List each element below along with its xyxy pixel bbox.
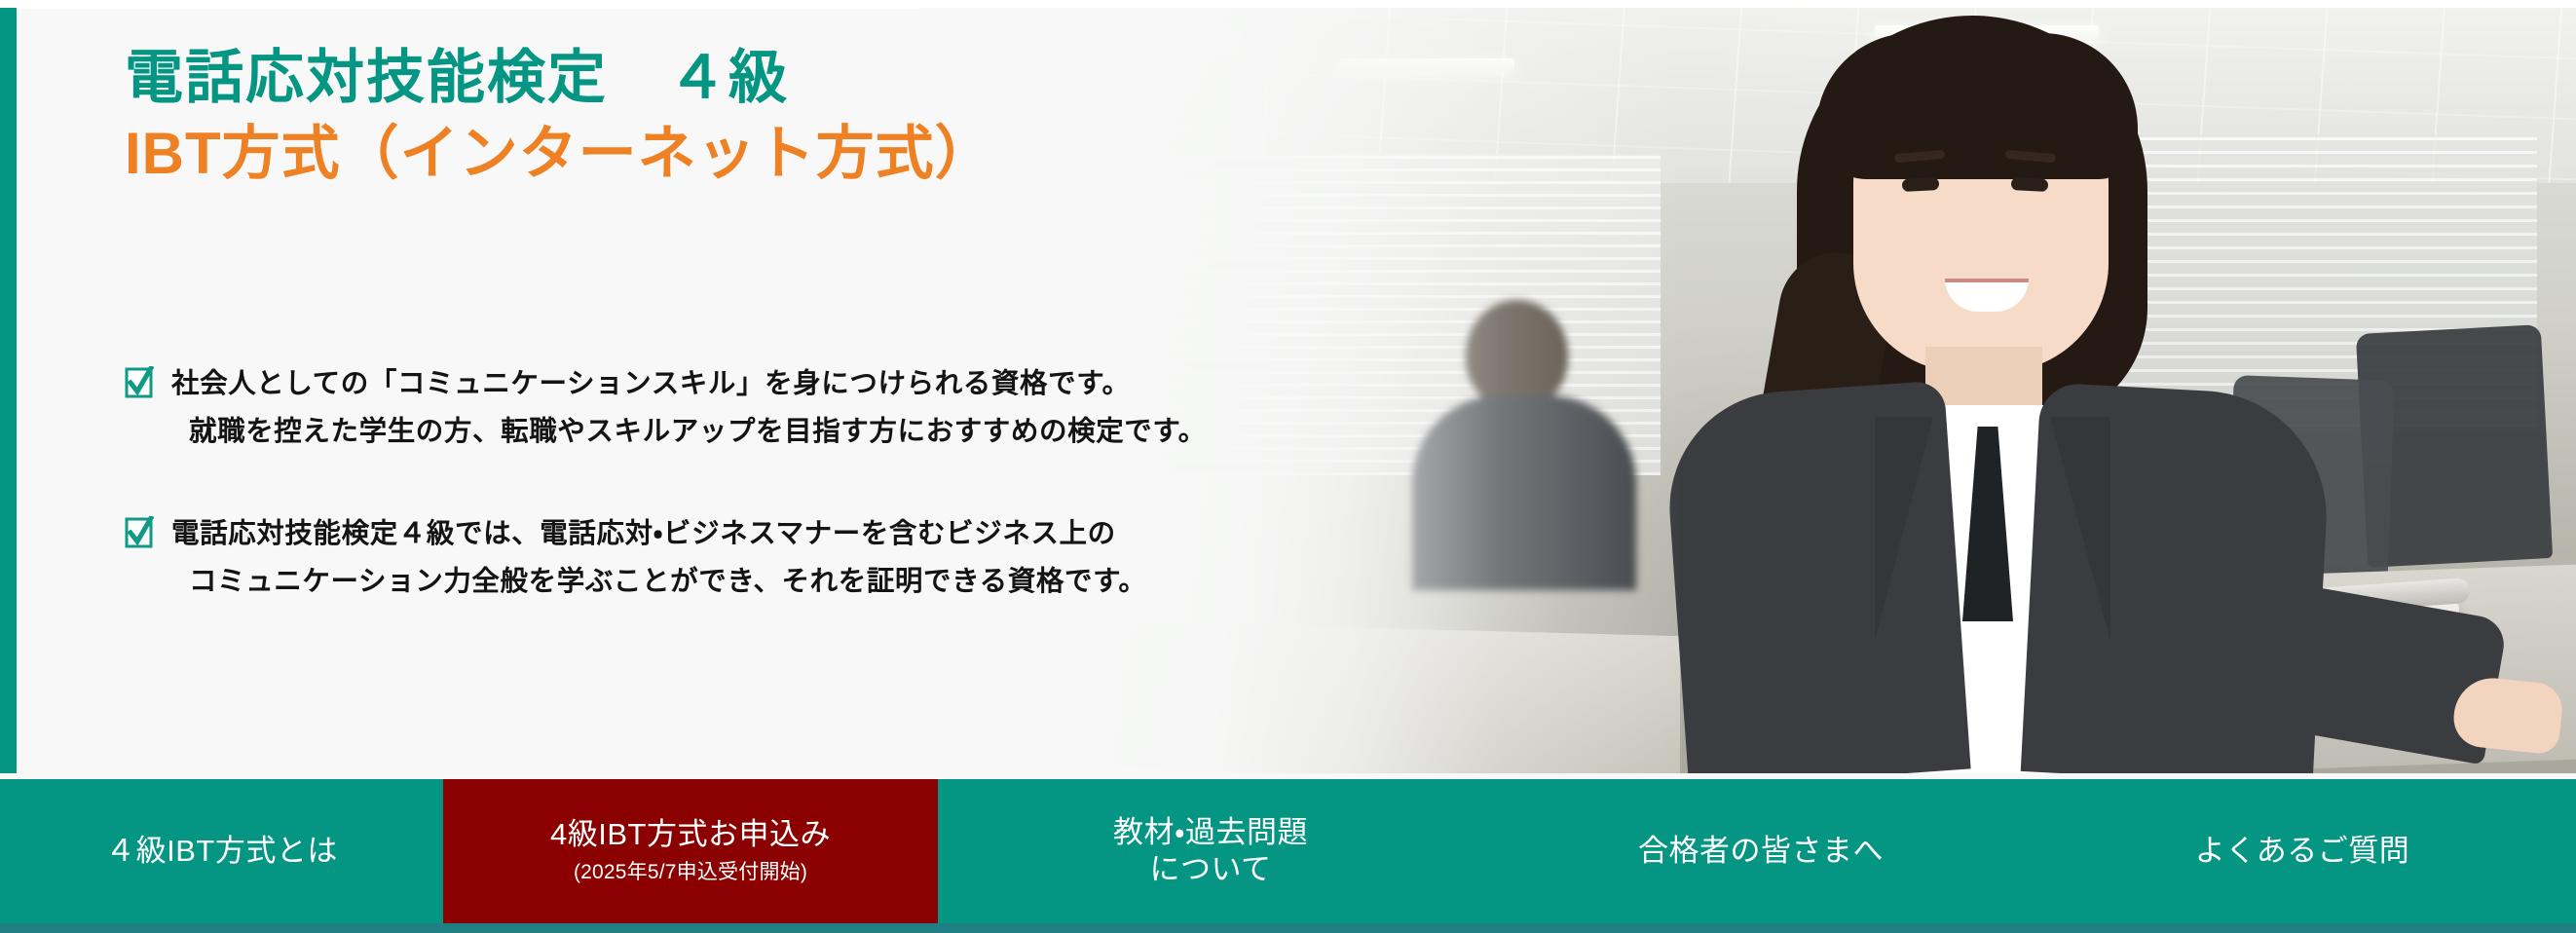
nav-item-application[interactable]: 4級IBT方式お申込み (2025年5/7申込受付開始) bbox=[443, 779, 938, 923]
hero-section: 電話応対技能検定 ４級 IBT方式（インターネット方式） 社会人としての「コミュ… bbox=[0, 0, 2576, 779]
nav-item-label: 教材・過去問題 について bbox=[1113, 814, 1308, 888]
list-item: 社会人としての「コミュニケーションスキル」を身につけられる資格です。 就職を控え… bbox=[125, 360, 1537, 456]
list-item-text: 社会人としての「コミュニケーションスキル」を身につけられる資格です。 就職を控え… bbox=[171, 360, 1207, 456]
nav-item-label: よくあるご質問 bbox=[2195, 833, 2410, 870]
nav-item-about-ibt[interactable]: ４級IBT方式とは bbox=[0, 779, 443, 923]
checkbox-checked-icon bbox=[125, 366, 154, 399]
feature-bullet-list: 社会人としての「コミュニケーションスキル」を身につけられる資格です。 就職を控え… bbox=[125, 360, 1537, 606]
certification-banner: 電話応対技能検定 ４級 IBT方式（インターネット方式） 社会人としての「コミュ… bbox=[0, 0, 2576, 933]
hero-heading-group: 電話応対技能検定 ４級 IBT方式（インターネット方式） bbox=[125, 41, 1586, 192]
main-navigation: ４級IBT方式とは 4級IBT方式お申込み (2025年5/7申込受付開始) 教… bbox=[0, 779, 2576, 933]
list-item: 電話応対技能検定４級では、電話応対・ビジネスマナーを含むビジネス上の コミュニケ… bbox=[125, 510, 1537, 606]
bullet-line-2: コミュニケーション力全般を学ぶことができ、それを証明できる資格です。 bbox=[171, 558, 1146, 606]
bullet-line-1: 社会人としての「コミュニケーションスキル」を身につけられる資格です。 bbox=[171, 368, 1131, 399]
nav-item-label: ４級IBT方式とは bbox=[105, 833, 338, 870]
nav-item-sublabel: (2025年5/7申込受付開始) bbox=[574, 859, 807, 885]
bullet-line-1: 電話応対技能検定４級では、電話応対・ビジネスマナーを含むビジネス上の bbox=[171, 518, 1116, 549]
left-teal-rail bbox=[0, 8, 17, 773]
nav-item-label: 4級IBT方式お申込み bbox=[550, 816, 831, 853]
bullet-line-2: 就職を控えた学生の方、転職やスキルアップを目指す方におすすめの検定です。 bbox=[171, 408, 1207, 456]
checkbox-checked-icon bbox=[125, 516, 154, 549]
nav-item-materials[interactable]: 教材・過去問題 について bbox=[938, 779, 1483, 923]
nav-item-passers[interactable]: 合格者の皆さまへ bbox=[1483, 779, 2038, 923]
page-title-secondary: IBT方式（インターネット方式） bbox=[125, 116, 1586, 192]
nav-item-faq[interactable]: よくあるご質問 bbox=[2038, 779, 2576, 923]
nav-item-label: 合格者の皆さまへ bbox=[1638, 833, 1884, 870]
list-item-text: 電話応対技能検定４級では、電話応対・ビジネスマナーを含むビジネス上の コミュニケ… bbox=[171, 510, 1146, 606]
page-title-primary: 電話応対技能検定 ４級 bbox=[125, 41, 1586, 116]
